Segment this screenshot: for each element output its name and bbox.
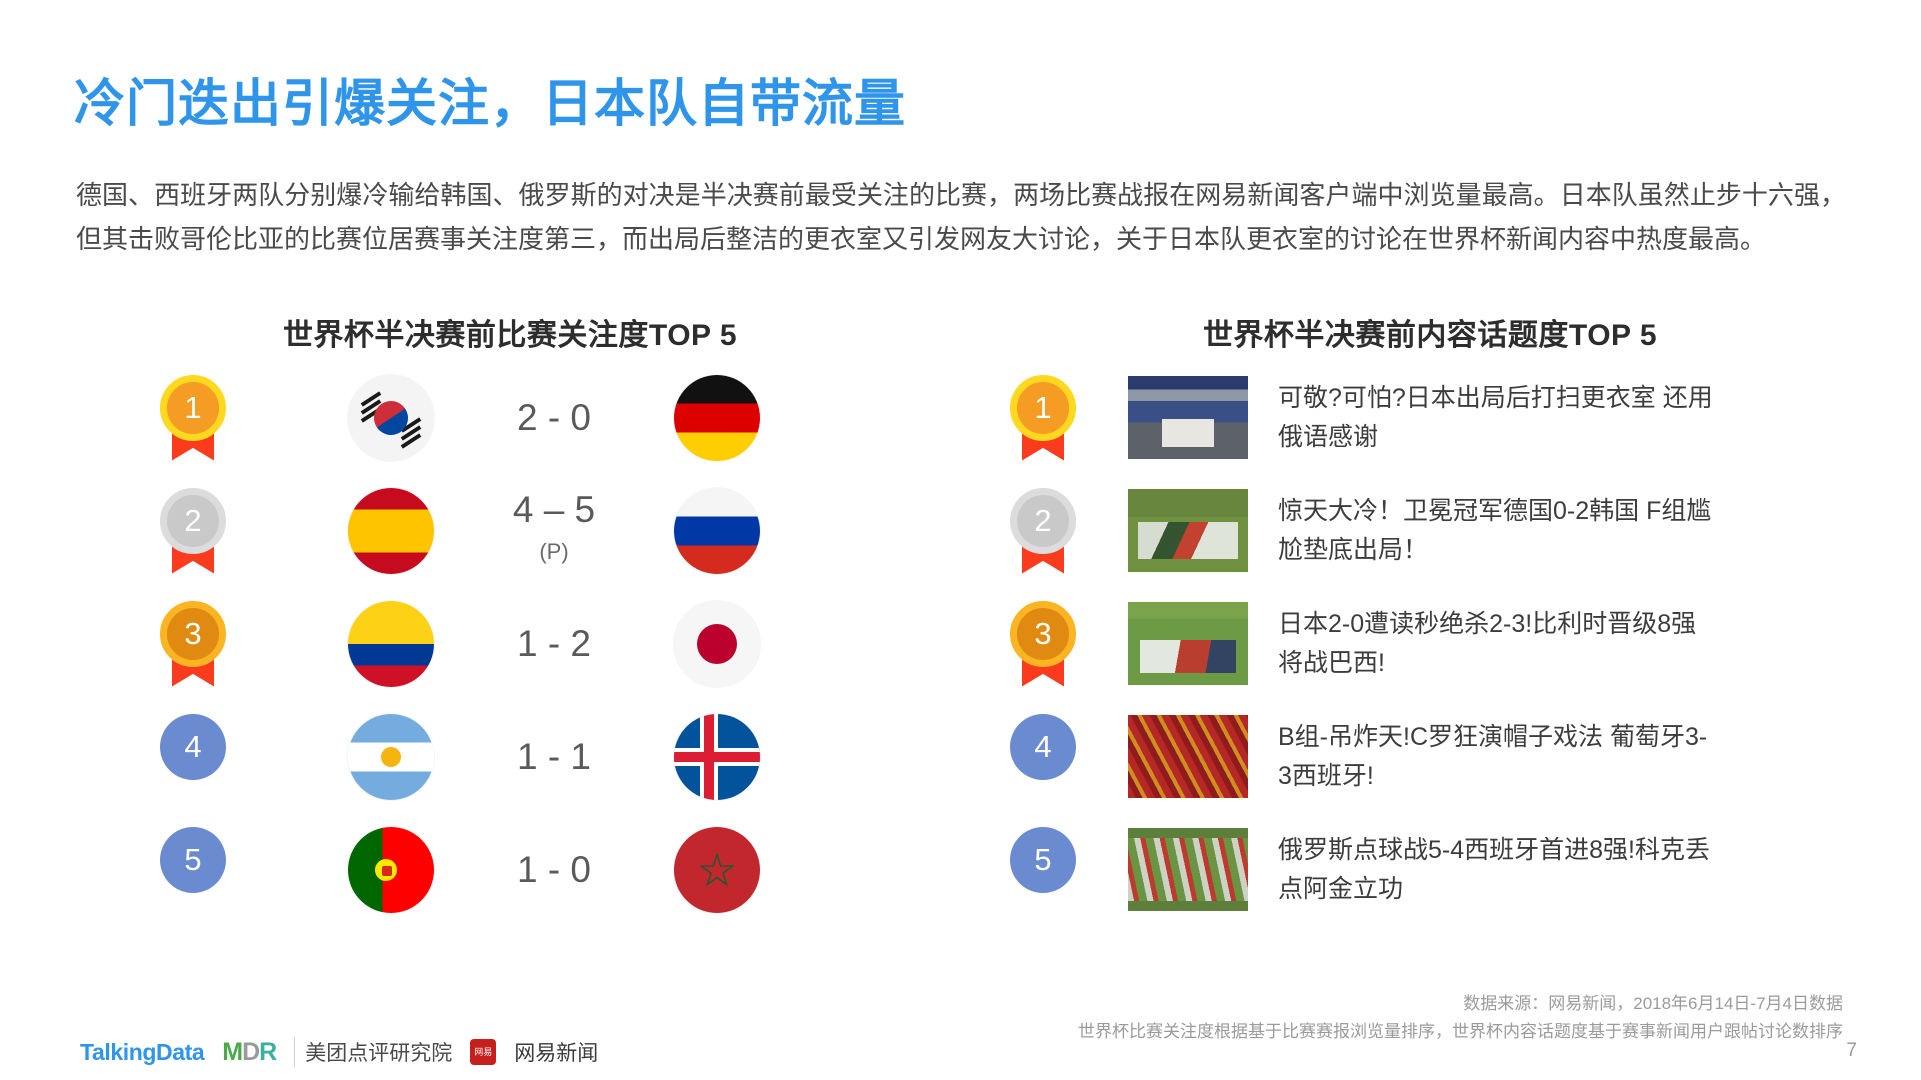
rank-number: 1	[160, 375, 226, 441]
page-title: 冷门迭出引爆关注，日本队自带流量	[74, 62, 906, 136]
table-row[interactable]: 2 4 – 5 (P)	[60, 481, 960, 580]
news-thumbnail[interactable]	[1128, 489, 1248, 572]
rank-number: 5	[1010, 827, 1076, 893]
news-thumbnail[interactable]	[1128, 602, 1248, 685]
right-panel-title: 世界杯半决赛前内容话题度TOP 5	[980, 310, 1880, 354]
rank-number: 1	[1010, 375, 1076, 441]
news-headline[interactable]: B组-吊炸天!C罗狂演帽子戏法 葡萄牙3-3西班牙!	[1278, 718, 1718, 796]
table-row[interactable]: 4 1 - 1	[60, 707, 960, 806]
talkingdata-logo: TalkingData	[80, 1039, 204, 1066]
match-score: 4 – 5 (P)	[434, 490, 674, 572]
news-headline[interactable]: 可敬?可怕?日本出局后打扫更衣室 还用俄语感谢	[1278, 379, 1718, 457]
flag-icon-colombia	[348, 601, 434, 687]
list-item[interactable]: 1 可敬?可怕?日本出局后打扫更衣室 还用俄语感谢	[980, 368, 1880, 467]
page-number: 7	[1846, 1040, 1857, 1062]
flag-icon-argentina	[348, 714, 434, 800]
match-attention-panel: 世界杯半决赛前比赛关注度TOP 5 1 2 - 0	[60, 310, 960, 919]
rank-badge-5: 5	[1010, 827, 1076, 913]
flag-icon-russia	[674, 488, 760, 574]
rank-number: 4	[160, 714, 226, 780]
news-thumbnail[interactable]	[1128, 828, 1248, 911]
content-topic-panel: 世界杯半决赛前内容话题度TOP 5 1 可敬?可怕?日本出局后打扫更衣室 还用俄…	[980, 310, 1880, 919]
left-panel-title: 世界杯半决赛前比赛关注度TOP 5	[60, 310, 960, 354]
flag-icon-germany	[674, 375, 760, 461]
pentagram-icon: ☆	[696, 847, 737, 893]
source-note: 数据来源：网易新闻，2018年6月14日-7月4日数据 世界杯比赛关注度根据基于…	[1078, 990, 1843, 1046]
rank-badge-3: 3	[160, 601, 226, 687]
match-score: 1 - 2	[434, 624, 674, 664]
source-line-1: 数据来源：网易新闻，2018年6月14日-7月4日数据	[1078, 990, 1843, 1018]
news-thumbnail[interactable]	[1128, 715, 1248, 798]
rank-badge-5: 5	[160, 827, 226, 913]
flag-icon-japan	[674, 601, 760, 687]
rank-badge-1: 1	[1010, 375, 1076, 461]
news-headline[interactable]: 惊天大冷！卫冕冠军德国0-2韩国 F组尴尬垫底出局！	[1278, 492, 1718, 570]
slide-page: 冷门迭出引爆关注，日本队自带流量 德国、西班牙两队分别爆冷输给韩国、俄罗斯的对决…	[0, 0, 1921, 1080]
mdr-logo: MDR	[222, 1038, 276, 1067]
footer-logos: TalkingData MDR 美团点评研究院 网易 网易新闻	[80, 1037, 598, 1067]
rank-number: 2	[160, 488, 226, 554]
flag-icon-spain	[348, 488, 434, 574]
news-headline[interactable]: 日本2-0遭读秒绝杀2-3!比利时晋级8强将战巴西!	[1278, 605, 1718, 683]
rank-number: 2	[1010, 488, 1076, 554]
penalty-note: (P)	[434, 532, 674, 572]
list-item[interactable]: 3 日本2-0遭读秒绝杀2-3!比利时晋级8强将战巴西!	[980, 594, 1880, 693]
rank-badge-3: 3	[1010, 601, 1076, 687]
netease-mark-icon: 网易	[470, 1039, 496, 1065]
news-thumbnail[interactable]	[1128, 376, 1248, 459]
sun-disc	[697, 624, 737, 664]
rank-badge-2: 2	[1010, 488, 1076, 574]
sun-of-may-icon	[381, 747, 401, 767]
rank-badge-2: 2	[160, 488, 226, 574]
match-score: 1 - 0	[434, 850, 674, 890]
crest-icon	[375, 859, 397, 881]
list-item[interactable]: 4 B组-吊炸天!C罗狂演帽子戏法 葡萄牙3-3西班牙!	[980, 707, 1880, 806]
rank-badge-4: 4	[1010, 714, 1076, 800]
flag-icon-portugal	[348, 827, 434, 913]
source-line-2: 世界杯比赛关注度根据基于比赛赛报浏览量排序，世界杯内容话题度基于赛事新闻用户跟帖…	[1078, 1018, 1843, 1046]
table-row[interactable]: 5 1 - 0 ☆	[60, 820, 960, 919]
rank-number: 5	[160, 827, 226, 893]
rank-number: 4	[1010, 714, 1076, 780]
news-headline[interactable]: 俄罗斯点球战5-4西班牙首进8强!科克丢点阿金立功	[1278, 831, 1718, 909]
match-score: 2 - 0	[434, 398, 674, 438]
flag-icon-iceland	[674, 714, 760, 800]
table-row[interactable]: 3 1 - 2	[60, 594, 960, 693]
table-row[interactable]: 1 2 - 0	[60, 368, 960, 467]
rank-number: 3	[1010, 601, 1076, 667]
list-item[interactable]: 2 惊天大冷！卫冕冠军德国0-2韩国 F组尴尬垫底出局！	[980, 481, 1880, 580]
list-item[interactable]: 5 俄罗斯点球战5-4西班牙首进8强!科克丢点阿金立功	[980, 820, 1880, 919]
rank-number: 3	[160, 601, 226, 667]
flag-icon-korea	[348, 375, 434, 461]
meituan-research-logo: 美团点评研究院	[294, 1037, 452, 1067]
netease-news-logo: 网易新闻	[514, 1037, 598, 1067]
rank-badge-4: 4	[160, 714, 226, 800]
intro-paragraph: 德国、西班牙两队分别爆冷输给韩国、俄罗斯的对决是半决赛前最受关注的比赛，两场比赛…	[76, 173, 1846, 261]
rank-badge-1: 1	[160, 375, 226, 461]
flag-icon-morocco: ☆	[674, 827, 760, 913]
match-score: 1 - 1	[434, 737, 674, 777]
